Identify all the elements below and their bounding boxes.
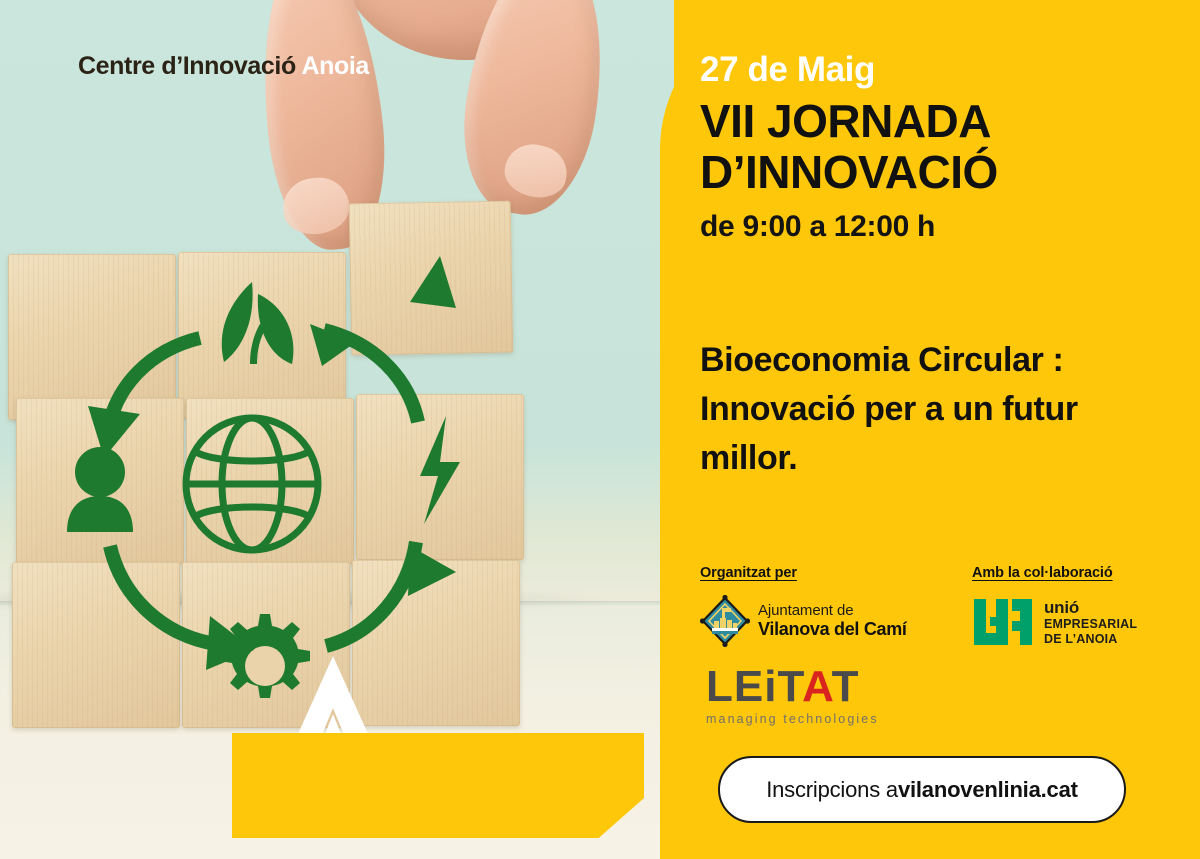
brand-banner: [232, 733, 644, 838]
leitat-logo: LEiTAT managing technologies: [706, 665, 879, 726]
uea-line-2: EMPRESARIAL: [1044, 617, 1137, 632]
organizer-block: Organitzat per: [700, 565, 930, 647]
ajuntament-logo: Ajuntament de Vilanova del Camí: [700, 595, 930, 647]
leitat-tagline: managing technologies: [706, 712, 879, 726]
ajuntament-line-1: Ajuntament de: [758, 603, 907, 620]
brand-name-primary: Centre d’Innovació: [78, 52, 301, 80]
block-r1c2: [356, 394, 524, 560]
block-r0c1: [178, 252, 346, 418]
event-hours: de 9:00 a 12:00 h: [700, 210, 935, 244]
leitat-part-1: LEiT: [706, 662, 802, 711]
title-line-1: VII JORNADA: [700, 96, 1120, 147]
collaboration-label: Amb la col·laboració: [972, 565, 1172, 581]
uea-line-1: unió: [1044, 598, 1137, 618]
cta-prefix: Inscripcions a: [766, 777, 898, 803]
brand-name-accent: Anoia: [301, 52, 368, 80]
title-line-2: D’INNOVACIÓ: [700, 147, 1120, 198]
cta-domain[interactable]: vilanovenlinia.cat: [898, 777, 1078, 803]
block-r1c0: [16, 398, 184, 564]
yellow-info-panel: 27 de Maig VII JORNADA D’INNOVACIÓ de 9:…: [660, 0, 1200, 859]
brand-banner-text: Centre d’Innovació Anoia: [78, 52, 369, 81]
town-crest-diamond-icon: [700, 595, 750, 647]
event-date: 27 de Maig: [700, 50, 875, 90]
theme-line-2: Innovació per a un futur: [700, 385, 1160, 434]
theme-line-1: Bioeconomia Circular :: [700, 336, 1160, 385]
theme-line-3: millor.: [700, 434, 1160, 483]
leitat-wordmark: LEiTAT: [706, 665, 879, 709]
registration-button[interactable]: Inscripcions a vilanovenlinia.cat: [718, 756, 1126, 823]
uea-line-3: DE L’ANOIA: [1044, 632, 1137, 647]
uea-monogram-icon: [972, 597, 1034, 647]
leitat-part-2: A: [802, 662, 832, 711]
block-r0c0: [8, 254, 176, 420]
page-title: VII JORNADA D’INNOVACIÓ: [700, 96, 1120, 198]
block-r1c1: [186, 398, 354, 564]
ajuntament-line-2: Vilanova del Camí: [758, 619, 907, 639]
block-r2c0: [12, 562, 180, 728]
poster-root: 27 de Maig VII JORNADA D’INNOVACIÓ de 9:…: [0, 0, 1200, 859]
uea-logo: unió EMPRESARIAL DE L’ANOIA: [972, 597, 1172, 647]
organizer-label: Organitzat per: [700, 565, 930, 581]
collaboration-block: Amb la col·laboració unió EMPRESARIAL DE…: [972, 565, 1172, 647]
block-held: [349, 201, 514, 356]
leitat-part-3: T: [832, 662, 860, 711]
wooden-block-grid: [4, 246, 524, 600]
event-theme: Bioeconomia Circular : Innovació per a u…: [700, 336, 1160, 483]
